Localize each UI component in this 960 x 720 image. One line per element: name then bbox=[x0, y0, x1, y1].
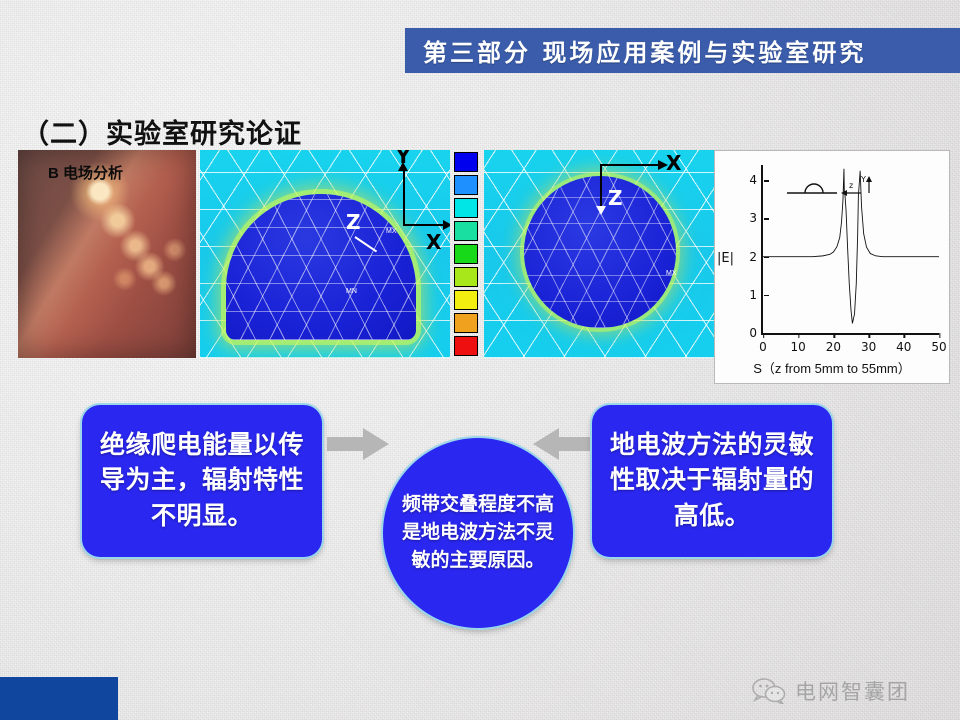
arrow-right-to-center-icon bbox=[533, 424, 595, 464]
inset-label-y: Y bbox=[860, 175, 866, 184]
watermark: 电网智囊团 bbox=[752, 676, 910, 706]
node-min-label: MN bbox=[346, 288, 357, 295]
section-title: （二）实验室研究论证 bbox=[22, 112, 302, 151]
inset-svg: z Y bbox=[785, 173, 877, 205]
header-title: 第三部分 现场应用案例与实验室研究 bbox=[405, 33, 866, 68]
arrow-left-to-center-icon bbox=[327, 424, 389, 464]
chart-ylabel: |E| bbox=[717, 251, 734, 266]
legend-swatch bbox=[454, 290, 478, 310]
legend-swatch bbox=[454, 152, 478, 172]
conclusion-box-right[interactable]: 地电波方法的灵敏性取决于辐射量的高低。 bbox=[592, 405, 832, 557]
chart-xtick: 0 bbox=[759, 333, 767, 354]
axis-label-z: Z bbox=[346, 210, 361, 234]
legend-swatch bbox=[454, 175, 478, 195]
watermark-text: 电网智囊团 bbox=[795, 676, 910, 706]
header-bar: 第三部分 现场应用案例与实验室研究 bbox=[405, 28, 960, 73]
fea-hemisphere-panel: Y X Z MX MN bbox=[200, 150, 450, 358]
chart-xtick: 10 bbox=[791, 333, 806, 354]
chart-xtick: 50 bbox=[931, 333, 946, 354]
color-legend bbox=[454, 152, 480, 356]
slide-canvas: 第三部分 现场应用案例与实验室研究 （二）实验室研究论证 B 电场分析 Y X … bbox=[0, 0, 960, 720]
electric-field-chart: |E| z Y 01234 01020304050 S（z fro bbox=[714, 150, 950, 384]
inset-label-z: z bbox=[849, 181, 853, 190]
chart-xtick: 40 bbox=[896, 333, 911, 354]
chart-ytick: 4 bbox=[749, 173, 763, 187]
axis-label-x: X bbox=[666, 151, 681, 175]
legend-swatch bbox=[454, 221, 478, 241]
axis-line-vertical bbox=[600, 164, 602, 208]
node-max-label: MX bbox=[666, 270, 677, 277]
photo-label: B 电场分析 bbox=[48, 162, 123, 183]
legend-swatch bbox=[454, 336, 478, 356]
axis-line-horizontal bbox=[403, 224, 447, 226]
legend-swatch bbox=[454, 267, 478, 287]
chart-ytick: 3 bbox=[749, 211, 763, 225]
chart-xtick: 20 bbox=[826, 333, 841, 354]
node-max-label: MX bbox=[386, 228, 397, 235]
conclusion-left-text: 绝缘爬电能量以传导为主，辐射特性不明显。 bbox=[82, 422, 322, 541]
legend-swatch bbox=[454, 244, 478, 264]
conclusion-circle-center[interactable]: 频带交叠程度不高是地电波方法不灵敏的主要原因。 bbox=[383, 438, 573, 628]
chart-ytick: 1 bbox=[749, 288, 763, 302]
axis-arrow-z bbox=[596, 206, 606, 215]
conclusion-box-left[interactable]: 绝缘爬电能量以传导为主，辐射特性不明显。 bbox=[82, 405, 322, 557]
axis-label-y: Y bbox=[396, 150, 410, 168]
axis-arrow-x bbox=[443, 220, 450, 230]
legend-swatch bbox=[454, 313, 478, 333]
chart-ytick: 2 bbox=[749, 250, 763, 264]
conclusion-right-text: 地电波方法的灵敏性取决于辐射量的高低。 bbox=[592, 422, 832, 541]
axis-label-z: Z bbox=[608, 186, 623, 210]
legend-swatch bbox=[454, 198, 478, 218]
axis-line-horizontal bbox=[600, 164, 662, 166]
wechat-icon bbox=[752, 678, 786, 704]
fea-sphere-panel: X Z MX bbox=[484, 150, 726, 358]
chart-xtick: 30 bbox=[861, 333, 876, 354]
conclusion-center-text: 频带交叠程度不高是地电波方法不灵敏的主要原因。 bbox=[383, 491, 573, 575]
footer-accent-block bbox=[0, 677, 118, 720]
chart-inset-diagram: z Y bbox=[785, 173, 877, 205]
chart-xlabel: S（z from 5mm to 55mm） bbox=[715, 358, 949, 377]
axis-line-vertical bbox=[403, 168, 405, 226]
axis-label-x: X bbox=[426, 230, 441, 254]
chart-plot-area: z Y 01234 01020304050 bbox=[761, 165, 939, 335]
